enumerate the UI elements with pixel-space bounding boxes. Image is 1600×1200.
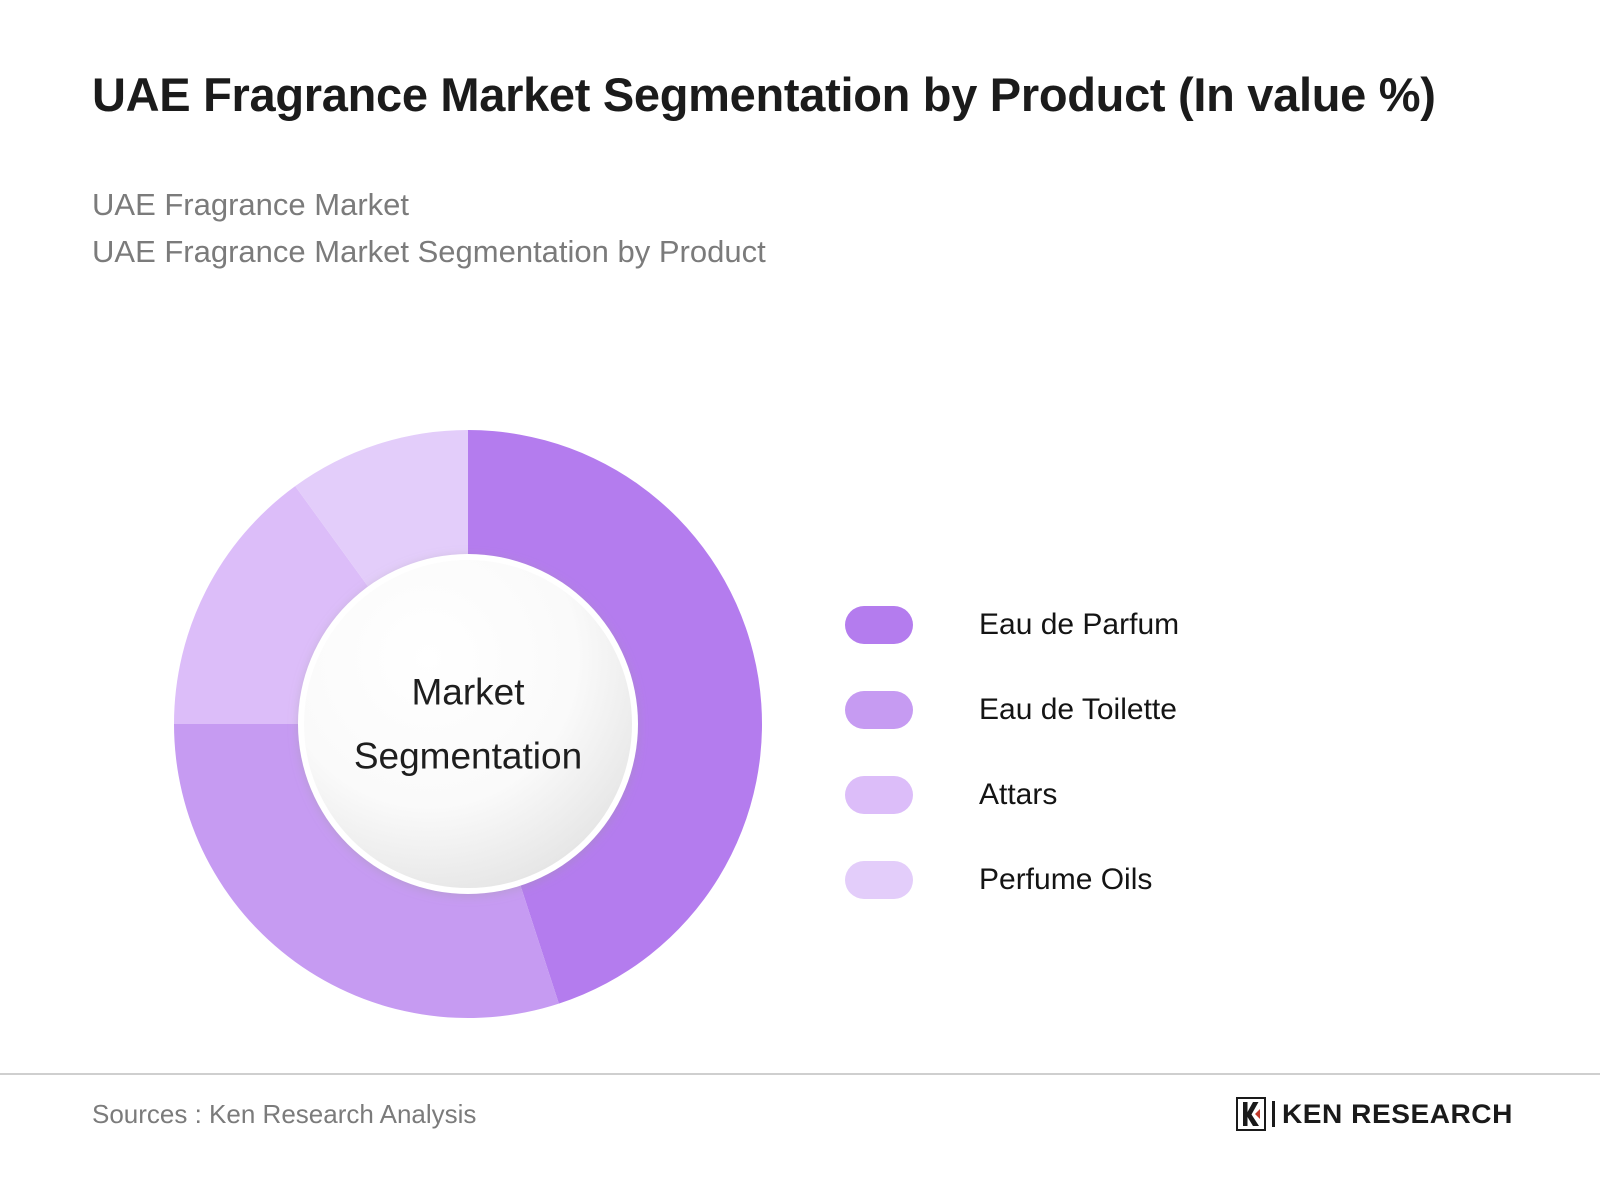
- ken-logo-k-icon: [1236, 1097, 1266, 1131]
- slide-root: UAE Fragrance Market Segmentation by Pro…: [0, 0, 1600, 1200]
- donut-chart: Market Segmentation: [171, 427, 765, 1021]
- legend-item[interactable]: Perfume Oils: [845, 837, 1405, 922]
- legend-label: Eau de Toilette: [979, 693, 1177, 727]
- page-title: UAE Fragrance Market Segmentation by Pro…: [92, 62, 1477, 129]
- chart-legend: Eau de ParfumEau de ToiletteAttarsPerfum…: [845, 582, 1405, 922]
- breadcrumb-line-market: UAE Fragrance Market: [92, 181, 1492, 228]
- legend-label: Perfume Oils: [979, 863, 1152, 897]
- footer: Sources : Ken Research Analysis KEN RESE…: [0, 1073, 1600, 1200]
- legend-swatch-icon: [845, 776, 913, 814]
- legend-item[interactable]: Eau de Parfum: [845, 582, 1405, 667]
- donut-svg: [171, 427, 765, 1021]
- legend-label: Eau de Parfum: [979, 608, 1179, 642]
- breadcrumb-line-segment: UAE Fragrance Market Segmentation by Pro…: [92, 228, 1492, 275]
- logo-divider: [1272, 1101, 1275, 1127]
- donut-hub: [304, 560, 632, 888]
- legend-swatch-icon: [845, 606, 913, 644]
- legend-item[interactable]: Attars: [845, 752, 1405, 837]
- sources-text: Sources : Ken Research Analysis: [92, 1099, 476, 1130]
- legend-item[interactable]: Eau de Toilette: [845, 667, 1405, 752]
- legend-swatch-icon: [845, 691, 913, 729]
- ken-research-logo[interactable]: KEN RESEARCH: [1236, 1095, 1504, 1133]
- header: UAE Fragrance Market Segmentation by Pro…: [92, 62, 1492, 275]
- chart-area: Market Segmentation Eau de ParfumEau de …: [0, 400, 1600, 1040]
- breadcrumb: UAE Fragrance Market UAE Fragrance Marke…: [92, 181, 1492, 275]
- logo-wordmark: KEN RESEARCH: [1282, 1099, 1513, 1130]
- legend-swatch-icon: [845, 861, 913, 899]
- legend-label: Attars: [979, 778, 1057, 812]
